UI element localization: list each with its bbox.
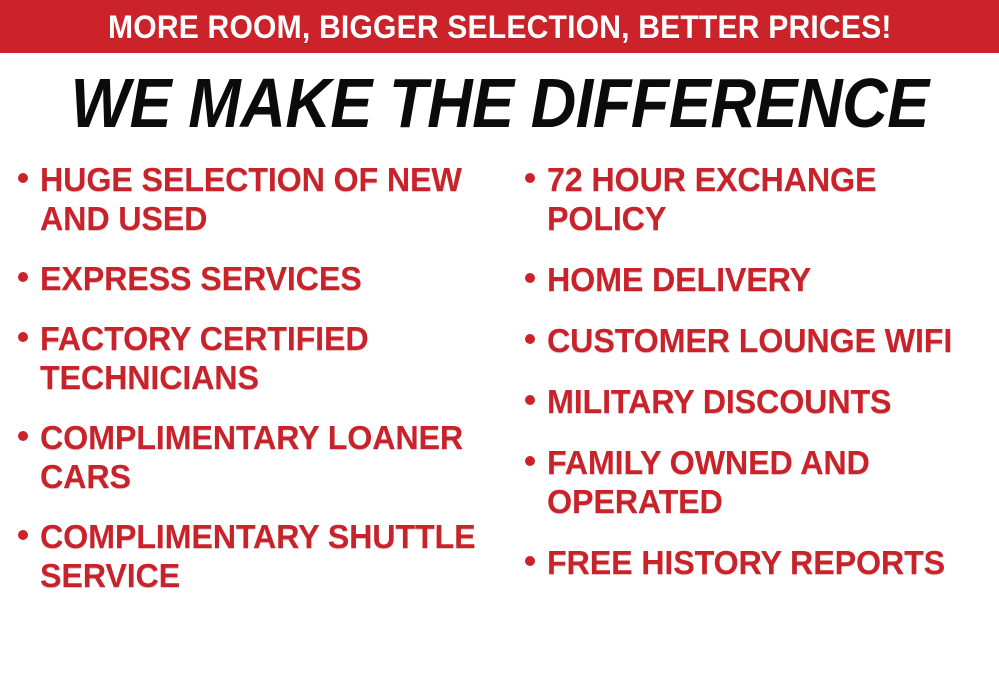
bullet-dot-icon xyxy=(525,334,535,344)
list-item-label: CUSTOMER LOUNGE WIFI xyxy=(547,321,952,360)
bullet-dot-icon xyxy=(525,173,535,183)
list-item-label: MILITARY DISCOUNTS xyxy=(547,382,891,421)
promo-banner: MORE ROOM, BIGGER SELECTION, BETTER PRIC… xyxy=(0,0,999,53)
list-item: FAMILY OWNED AND OPERATED xyxy=(525,443,997,521)
bullet-dot-icon xyxy=(18,530,28,540)
bullet-dot-icon xyxy=(18,272,28,282)
headline: WE MAKE THE DIFFERENCE xyxy=(0,68,999,138)
list-item: FACTORY CERTIFIED TECHNICIANS xyxy=(18,319,499,397)
bullet-dot-icon xyxy=(525,456,535,466)
list-item-label: FACTORY CERTIFIED TECHNICIANS xyxy=(40,319,490,397)
list-item: COMPLIMENTARY LOANER CARS xyxy=(18,418,499,496)
bullet-dot-icon xyxy=(525,273,535,283)
list-item-label: COMPLIMENTARY LOANER CARS xyxy=(40,418,490,496)
headline-text: WE MAKE THE DIFFERENCE xyxy=(70,68,928,138)
bullet-dot-icon xyxy=(18,431,28,441)
list-item: FREE HISTORY REPORTS xyxy=(525,543,997,582)
list-item: MILITARY DISCOUNTS xyxy=(525,382,997,421)
list-item-label: FREE HISTORY REPORTS xyxy=(547,543,945,582)
list-item: COMPLIMENTARY SHUTTLE SERVICE xyxy=(18,517,499,595)
benefits-column-left: HUGE SELECTION OF NEW AND USED EXPRESS S… xyxy=(0,160,505,616)
advertisement-banner: MORE ROOM, BIGGER SELECTION, BETTER PRIC… xyxy=(0,0,999,692)
benefits-columns: HUGE SELECTION OF NEW AND USED EXPRESS S… xyxy=(0,160,999,692)
list-item: CUSTOMER LOUNGE WIFI xyxy=(525,321,997,360)
bullet-dot-icon xyxy=(18,332,28,342)
bullet-dot-icon xyxy=(525,556,535,566)
list-item-label: 72 HOUR EXCHANGE POLICY xyxy=(547,160,988,238)
list-item-label: EXPRESS SERVICES xyxy=(40,259,362,298)
list-item-label: HUGE SELECTION OF NEW AND USED xyxy=(40,160,490,238)
list-item-label: HOME DELIVERY xyxy=(547,260,811,299)
list-item: HUGE SELECTION OF NEW AND USED xyxy=(18,160,499,238)
bullet-dot-icon xyxy=(18,173,28,183)
list-item: EXPRESS SERVICES xyxy=(18,259,499,298)
list-item-label: COMPLIMENTARY SHUTTLE SERVICE xyxy=(40,517,490,595)
bullet-dot-icon xyxy=(525,395,535,405)
benefits-column-right: 72 HOUR EXCHANGE POLICY HOME DELIVERY CU… xyxy=(505,160,999,604)
list-item-label: FAMILY OWNED AND OPERATED xyxy=(547,443,988,521)
promo-banner-text: MORE ROOM, BIGGER SELECTION, BETTER PRIC… xyxy=(108,11,892,43)
list-item: 72 HOUR EXCHANGE POLICY xyxy=(525,160,997,238)
list-item: HOME DELIVERY xyxy=(525,260,997,299)
